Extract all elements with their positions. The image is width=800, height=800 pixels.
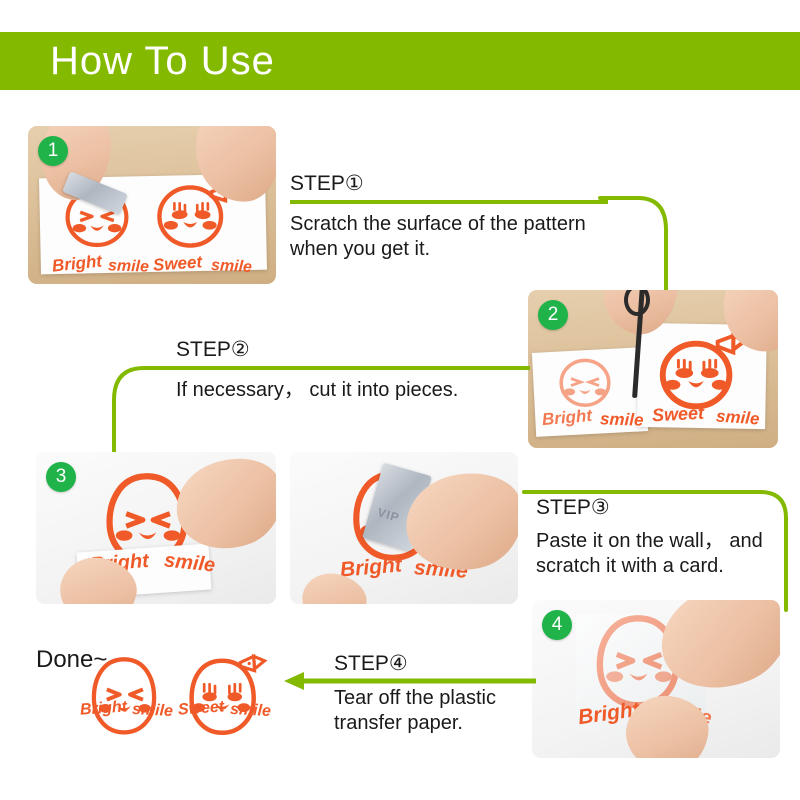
step-1-photo: Bright smile Sweet smile 1 <box>28 126 276 284</box>
bow <box>240 656 264 670</box>
step-3-label: STEP③ <box>536 496 790 520</box>
step-1-badge: 1 <box>38 136 68 166</box>
step-1-body: Scratch the surface of the pattern when … <box>290 212 602 262</box>
step-3-photo-b: VIP Bright smile <box>290 452 518 604</box>
step-2-text: STEP② If necessary， cut it into pieces. <box>176 338 532 403</box>
step-1-rule <box>290 200 608 204</box>
decal-word-sweet: Sweet <box>651 403 704 427</box>
step-3-text: STEP③ Paste it on the wall， and scratch … <box>536 496 790 579</box>
step-3-body-line-1: Paste it on the wall， and <box>536 529 790 554</box>
step-4-label: STEP④ <box>334 652 546 676</box>
step-4-text: STEP④ Tear off the plastic transfer pape… <box>334 652 546 736</box>
result-decal-word-smile-1: smile <box>132 701 174 721</box>
step-2-photo: Bright smile Sweet smile 2 <box>528 290 778 448</box>
decal-word-smile-2: smile <box>211 257 253 277</box>
step-1-label: STEP① <box>290 172 610 196</box>
result-decal-word-smile-2: smile <box>230 701 272 721</box>
step-4-photo: Bright smile 4 <box>532 600 780 758</box>
page-title: How To Use <box>50 38 275 84</box>
step-4-badge: 4 <box>542 610 572 640</box>
step-4-body-line-1: Tear off the plastic <box>334 686 546 711</box>
decal-word-smile-2: smile <box>715 407 760 430</box>
card-label: VIP <box>376 505 401 525</box>
connector-step2-to-photo3 <box>108 366 178 462</box>
step-3-body-line-2: scratch it with a card. <box>536 554 790 579</box>
arrow-head <box>284 672 304 690</box>
result-sweet-smile-decal <box>176 650 272 740</box>
result-decal-word-sweet: Sweet <box>177 698 224 719</box>
infographic-root: How To Use <box>0 0 800 800</box>
result-decal-word-bright: Bright <box>79 698 127 719</box>
step-2-rule <box>176 366 530 370</box>
step-1-text: STEP① Scratch the surface of the pattern… <box>290 172 610 262</box>
step-3-badge: 3 <box>46 462 76 492</box>
decal-word-smile-1: smile <box>108 257 150 276</box>
step-4-body-line-2: transfer paper. <box>334 711 546 736</box>
decal-word-sweet: Sweet <box>152 252 202 275</box>
step-3-photo-a: Bright smile 3 <box>36 452 276 604</box>
step-2-body: If necessary， cut it into pieces. <box>176 378 532 403</box>
step-2-badge: 2 <box>538 300 568 330</box>
step-2-label: STEP② <box>176 338 532 362</box>
decal-word-smile-1: smile <box>600 409 644 431</box>
